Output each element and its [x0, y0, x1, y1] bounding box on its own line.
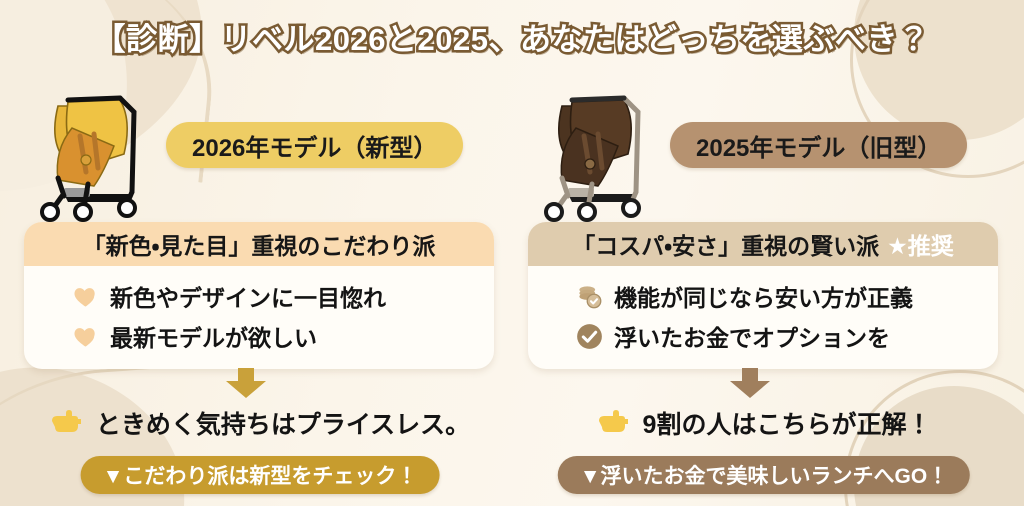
infographic-canvas: 【診断】リベル2026と2025、あなたはどっちを選ぶべき？: [0, 0, 1024, 506]
list-item-label: 最新モデルが欲しい: [110, 319, 317, 353]
cta-button-2025[interactable]: ▼浮いたお金で美味しいランチへGO！: [558, 456, 970, 494]
pointing-hand-icon: [50, 409, 84, 437]
coins-icon: [576, 283, 603, 310]
stroller-yellow-image: [28, 76, 160, 222]
persona-card-body-2025: 機能が同じなら安い方が正義 浮いたお金でオプションを: [528, 266, 998, 369]
list-item-label: 浮いたお金でオプションを: [614, 319, 890, 353]
heart-icon: [72, 323, 99, 350]
conclusion-row-2025: 9割の人はこちらが正解！: [518, 405, 1010, 441]
list-item-label: 機能が同じなら安い方が正義: [614, 279, 913, 313]
column-2026-model: 2026年モデル（新型） 「新色・見た目」重視のこだわり派 新色やデザインに一目…: [14, 72, 506, 502]
cta-button-2026[interactable]: ▼こだわり派は新型をチェック！: [81, 456, 440, 494]
recommended-badge: ★推奨: [887, 227, 954, 261]
persona-card-header-label: 「コスパ・安さ」重視の賢い派: [572, 227, 879, 261]
stroller-brown-image: [532, 76, 664, 222]
persona-card-body-2026: 新色やデザインに一目惚れ 最新モデルが欲しい: [24, 266, 494, 369]
conclusion-row-2026: ときめく気持ちはプライスレス。: [14, 405, 506, 441]
list-item-label: 新色やデザインに一目惚れ: [110, 279, 386, 313]
page-title: 【診断】リベル2026と2025、あなたはどっちを選ぶべき？: [0, 14, 1024, 59]
conclusion-label: 9割の人はこちらが正解！: [643, 405, 932, 441]
persona-card-header-label: 「新色・見た目」重視のこだわり派: [83, 227, 436, 261]
list-item: 浮いたお金でオプションを: [528, 316, 998, 356]
conclusion-label: ときめく気持ちはプライスレス。: [96, 405, 470, 441]
persona-card-header-2026: 「新色・見た目」重視のこだわり派: [24, 222, 494, 266]
list-item: 最新モデルが欲しい: [24, 316, 494, 356]
list-item: 新色やデザインに一目惚れ: [24, 276, 494, 316]
column-2025-model: 2025年モデル（旧型） 「コスパ・安さ」重視の賢い派 ★推奨: [518, 72, 1010, 502]
persona-card-2026: 「新色・見た目」重視のこだわり派 新色やデザインに一目惚れ: [24, 222, 494, 369]
down-arrow-icon: [225, 368, 267, 398]
heart-icon: [72, 283, 99, 310]
down-arrow-icon: [729, 368, 771, 398]
model-badge-2026: 2026年モデル（新型）: [166, 122, 463, 168]
persona-card-header-2025: 「コスパ・安さ」重視の賢い派 ★推奨: [528, 222, 998, 266]
persona-card-2025: 「コスパ・安さ」重視の賢い派 ★推奨 機能が同じなら安い方が正義: [528, 222, 998, 369]
check-circle-icon: [576, 323, 603, 350]
pointing-hand-icon: [597, 409, 631, 437]
list-item: 機能が同じなら安い方が正義: [528, 276, 998, 316]
model-badge-2025: 2025年モデル（旧型）: [670, 122, 967, 168]
